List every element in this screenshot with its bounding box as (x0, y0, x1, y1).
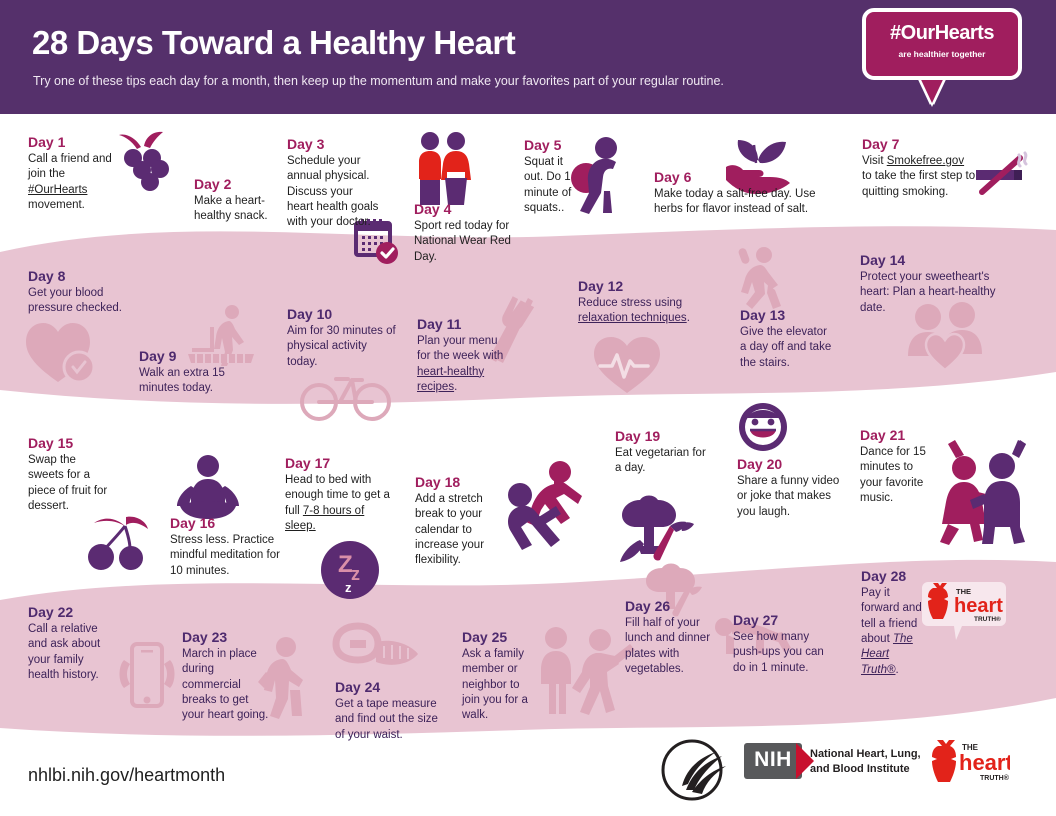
ourhearts-tagline: are healthier together (866, 49, 1018, 59)
tip-day-text: Call a friend and join the #OurHearts mo… (28, 152, 112, 213)
tip-day-label: Day 2 (194, 176, 290, 192)
tip-day-7: Day 7 Visit Smokefree.gov to take the fi… (862, 136, 976, 200)
nhlbi-line2: and Blood Institute (810, 762, 921, 777)
infographic-page: 28 Days Toward a Healthy Heart Try one o… (0, 0, 1056, 816)
tip-day-label: Day 4 (414, 201, 518, 217)
nhlbi-name: National Heart, Lung, and Blood Institut… (810, 747, 921, 777)
dancing-couple-icon (926, 438, 1026, 546)
tip-day-label: Day 27 (733, 612, 837, 628)
heart-truth-logo-icon: THE heart TRUTH® (920, 580, 1008, 642)
tip-day-10: Day 10 Aim for 30 minutes of physical ac… (287, 306, 397, 370)
tip-day-label: Day 28 (861, 568, 923, 584)
tip-day-label: Day 18 (415, 474, 495, 490)
tip-day-15: Day 15 Swap the sweets for a piece of fr… (28, 435, 112, 514)
tip-day-5: Day 5 Squat it out. Do 1 minute of squat… (524, 137, 580, 216)
tip-day-18: Day 18 Add a stretch break to your calen… (415, 474, 495, 569)
stretching-icon (498, 458, 588, 552)
ourhearts-hashtag: #OurHearts (866, 22, 1018, 45)
ourhearts-logo: #OurHearts are healthier together (862, 8, 1022, 80)
tip-day-25: Day 25 Ask a family member or neighbor t… (462, 629, 534, 724)
tip-day-1: Day 1 Call a friend and join the #OurHea… (28, 134, 112, 213)
tip-day-label: Day 5 (524, 137, 580, 153)
tip-day-20: Day 20 Share a funny video or joke that … (737, 456, 845, 520)
tip-day-label: Day 11 (417, 316, 507, 332)
tip-day-11: Day 11 Plan your menu for the week with … (417, 316, 507, 395)
tip-day-13: Day 13 Give the elevator a day off and t… (740, 307, 836, 371)
vegetables-icon (608, 486, 704, 562)
red-couple-icon (412, 130, 474, 208)
tip-day-text: Stress less. Practice mindful meditation… (170, 533, 282, 579)
svg-text:TRUTH®: TRUTH® (980, 774, 1010, 782)
svg-text:heart: heart (954, 595, 1003, 617)
page-title: 28 Days Toward a Healthy Heart (32, 24, 515, 62)
tip-day-12: Day 12 Reduce stress using relaxation te… (578, 278, 720, 327)
tip-day-label: Day 8 (28, 268, 146, 284)
tip-day-label: Day 6 (654, 169, 838, 185)
tip-day-17: Day 17 Head to bed with enough time to g… (285, 455, 391, 534)
nhlbi-line1: National Heart, Lung, (810, 747, 921, 762)
tip-day-label: Day 10 (287, 306, 397, 322)
tip-day-text: Get a tape measure and find out the size… (335, 697, 445, 743)
tip-day-text: Call a relative and ask about your famil… (28, 622, 116, 683)
tip-day-label: Day 16 (170, 515, 282, 531)
tip-day-text: Ask a family member or neighbor to join … (462, 647, 534, 723)
page-subtitle: Try one of these tips each day for a mon… (33, 74, 724, 88)
tip-day-19: Day 19 Eat vegetarian for a day. (615, 428, 711, 477)
tip-day-text: Dance for 15 minutes to your favorite mu… (860, 445, 932, 506)
svg-text:z: z (351, 564, 360, 584)
tip-day-27: Day 27 See how many push-ups you can do … (733, 612, 837, 676)
tip-day-text: Reduce stress using relaxation technique… (578, 296, 720, 327)
tip-day-22: Day 22 Call a relative and ask about you… (28, 604, 116, 683)
bicycle-icon (300, 368, 392, 422)
tip-day-24: Day 24 Get a tape measure and find out t… (335, 679, 445, 743)
tip-day-21: Day 21 Dance for 15 minutes to your favo… (860, 427, 932, 506)
tip-day-text: Make today a salt-free day. Use herbs fo… (654, 187, 838, 218)
nih-logo-box: NIH (744, 743, 802, 779)
tip-day-2: Day 2 Make a heart-healthy snack. (194, 176, 290, 225)
no-smoking-icon (972, 148, 1034, 200)
tip-day-23: Day 23 March in place during commercial … (182, 629, 272, 724)
tip-day-label: Day 26 (625, 598, 725, 614)
two-walkers-icon (530, 626, 634, 716)
tip-day-label: Day 19 (615, 428, 711, 444)
tip-day-text: Walk an extra 15 minutes today. (139, 366, 249, 397)
nih-abbrev: NIH (744, 748, 802, 772)
cherries-icon (80, 513, 152, 571)
tip-day-text: Fill half of your lunch and dinner plate… (625, 616, 725, 677)
tip-day-26: Day 26 Fill half of your lunch and dinne… (625, 598, 725, 677)
tip-day-text: Protect your sweetheart's heart: Plan a … (860, 270, 996, 316)
tip-day-6: Day 6 Make today a salt-free day. Use he… (654, 169, 838, 218)
tip-day-text: Aim for 30 minutes of physical activity … (287, 324, 397, 370)
phone-icon (110, 640, 182, 714)
stair-climber-icon (734, 246, 790, 312)
tip-day-text: Get your blood pressure checked. (28, 286, 146, 317)
tip-day-label: Day 13 (740, 307, 836, 323)
svg-text:TRUTH®: TRUTH® (974, 615, 1001, 623)
hhs-seal-logo (660, 736, 728, 809)
tip-day-text: Plan your menu for the week with heart-h… (417, 334, 507, 395)
footer-url[interactable]: nhlbi.nih.gov/heartmonth (28, 765, 225, 786)
tip-day-14: Day 14 Protect your sweetheart's heart: … (860, 252, 996, 316)
tip-day-label: Day 25 (462, 629, 534, 645)
tip-day-label: Day 14 (860, 252, 996, 268)
tip-day-text: Squat it out. Do 1 minute of squats.. (524, 155, 580, 216)
tip-day-text: Share a funny video or joke that makes y… (737, 474, 845, 520)
tip-day-text: Schedule your annual physical. Discuss y… (287, 154, 379, 230)
tip-day-label: Day 9 (139, 348, 249, 364)
svg-text:heart: heart (959, 750, 1010, 775)
tip-day-label: Day 3 (287, 136, 379, 152)
tip-day-label: Day 7 (862, 136, 976, 152)
tip-day-text: Visit Smokefree.gov to take the first st… (862, 154, 976, 200)
tip-day-text: Give the elevator a day off and take the… (740, 325, 836, 371)
tip-day-text: March in place during commercial breaks … (182, 647, 272, 723)
tip-day-label: Day 20 (737, 456, 845, 472)
laughing-face-icon (738, 402, 788, 452)
tip-day-label: Day 22 (28, 604, 116, 620)
tip-day-text: Sport red today for National Wear Red Da… (414, 219, 518, 265)
tip-day-text: Add a stretch break to your calendar to … (415, 492, 495, 568)
heart-truth-footer-logo: THE heart TRUTH® (930, 738, 1010, 789)
tip-day-28: Day 28 Pay it forward and tell a friend … (861, 568, 923, 678)
tip-day-text: Eat vegetarian for a day. (615, 446, 711, 477)
tip-day-label: Day 12 (578, 278, 720, 294)
tip-day-text: Make a heart-healthy snack. (194, 194, 290, 225)
tip-day-label: Day 24 (335, 679, 445, 695)
meditation-icon (172, 454, 244, 522)
sleep-zzz-icon: Z z z (320, 540, 380, 600)
tip-day-text: Pay it forward and tell a friend about T… (861, 586, 923, 678)
heart-gauge-icon (24, 320, 104, 386)
tape-measure-icon (330, 624, 422, 680)
tip-day-text: Head to bed with enough time to get a fu… (285, 473, 391, 534)
tip-day-4: Day 4 Sport red today for National Wear … (414, 201, 518, 265)
tip-day-label: Day 17 (285, 455, 391, 471)
grapes-icon (113, 131, 175, 197)
heart-pulse-icon (592, 336, 662, 396)
svg-text:z: z (345, 580, 352, 595)
tip-day-16: Day 16 Stress less. Practice mindful med… (170, 515, 282, 579)
tip-day-text: See how many push-ups you can do in 1 mi… (733, 630, 837, 676)
tip-day-label: Day 23 (182, 629, 272, 645)
tip-day-9: Day 9 Walk an extra 15 minutes today. (139, 348, 249, 397)
tip-day-label: Day 15 (28, 435, 112, 451)
tip-day-label: Day 21 (860, 427, 932, 443)
tip-day-label: Day 1 (28, 134, 112, 150)
tip-day-3: Day 3 Schedule your annual physical. Dis… (287, 136, 379, 231)
tip-day-text: Swap the sweets for a piece of fruit for… (28, 453, 112, 514)
tip-day-8: Day 8 Get your blood pressure checked. (28, 268, 146, 317)
